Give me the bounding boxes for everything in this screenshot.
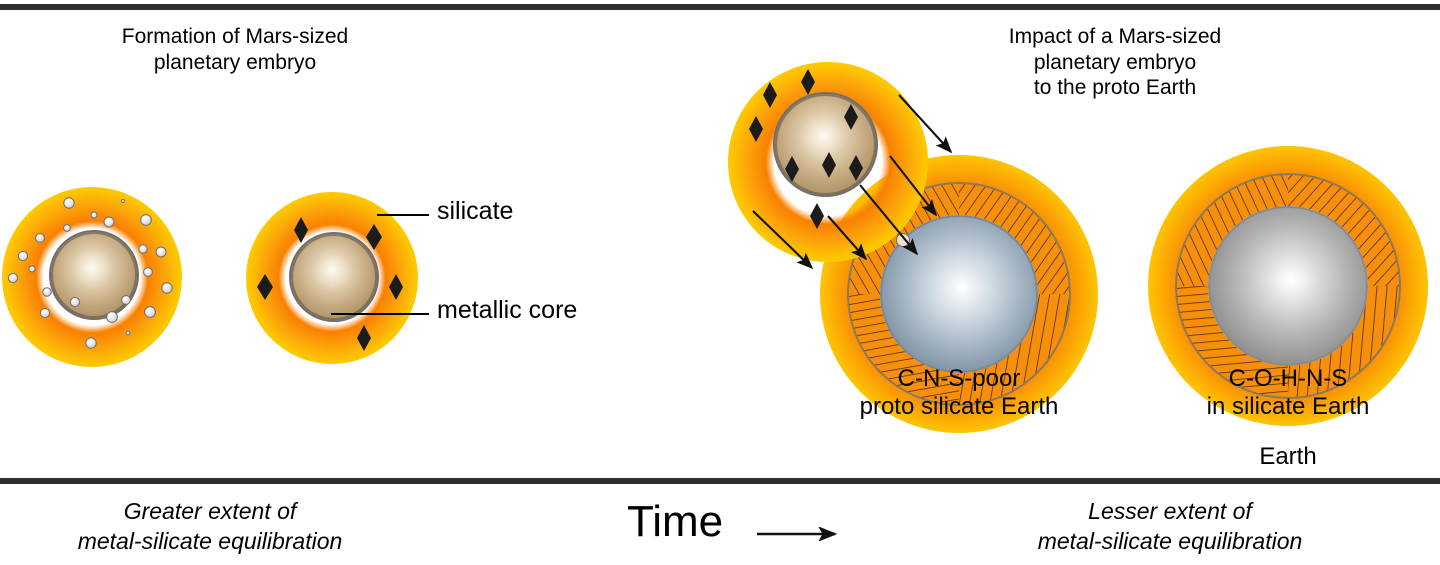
caption-greater-equilibration: Greater extent of metal-silicate equilib… — [0, 497, 420, 557]
metallic-core — [289, 232, 379, 322]
caption-right-line1: Lesser extent of — [900, 497, 1440, 527]
planet-impactor-embryo — [728, 62, 928, 262]
caption-right-line2: metal-silicate equilibration — [900, 527, 1440, 557]
leader-line-core — [331, 313, 429, 315]
time-axis-label: Time — [627, 497, 723, 547]
caption-lesser-equilibration: Lesser extent of metal-silicate equilibr… — [900, 497, 1440, 557]
metallic-core — [1208, 206, 1368, 366]
caption-left-line1: Greater extent of — [0, 497, 420, 527]
label-proto-earth-line1: C-N-S-poor — [829, 365, 1089, 393]
figure-canvas: Formation of Mars-sized planetary embryo… — [0, 0, 1440, 565]
top-rule — [0, 4, 1440, 10]
title-right-line1: Impact of a Mars-sized — [930, 24, 1300, 50]
title-right-line2: planetary embryo — [930, 50, 1300, 76]
title-right: Impact of a Mars-sized planetary embryo … — [930, 24, 1300, 101]
leader-line-silicate — [377, 214, 429, 216]
title-left: Formation of Mars-sized planetary embryo — [40, 24, 430, 75]
planet-embryo-droplets — [2, 187, 182, 367]
legend-silicate-label: silicate — [437, 197, 513, 226]
metallic-core — [773, 92, 878, 197]
label-proto-earth-line2: proto silicate Earth — [829, 393, 1089, 421]
label-earth-volatiles: C-O-H-N-S in silicate Earth — [1158, 365, 1418, 422]
label-earth-volatiles-line1: C-O-H-N-S — [1158, 365, 1418, 393]
title-left-line2: planetary embryo — [40, 50, 430, 76]
metallic-core — [49, 230, 139, 320]
caption-left-line2: metal-silicate equilibration — [0, 527, 420, 557]
planet-embryo-diamonds — [246, 192, 418, 364]
label-earth-volatiles-line2: in silicate Earth — [1158, 393, 1418, 421]
legend-metallic-core-label: metallic core — [437, 296, 577, 325]
title-left-line1: Formation of Mars-sized — [40, 24, 430, 50]
bottom-rule — [0, 478, 1440, 484]
title-right-line3: to the proto Earth — [930, 75, 1300, 101]
time-arrow-icon — [755, 527, 850, 541]
label-earth: Earth — [1158, 443, 1418, 471]
label-proto-earth: C-N-S-poor proto silicate Earth — [829, 365, 1089, 422]
